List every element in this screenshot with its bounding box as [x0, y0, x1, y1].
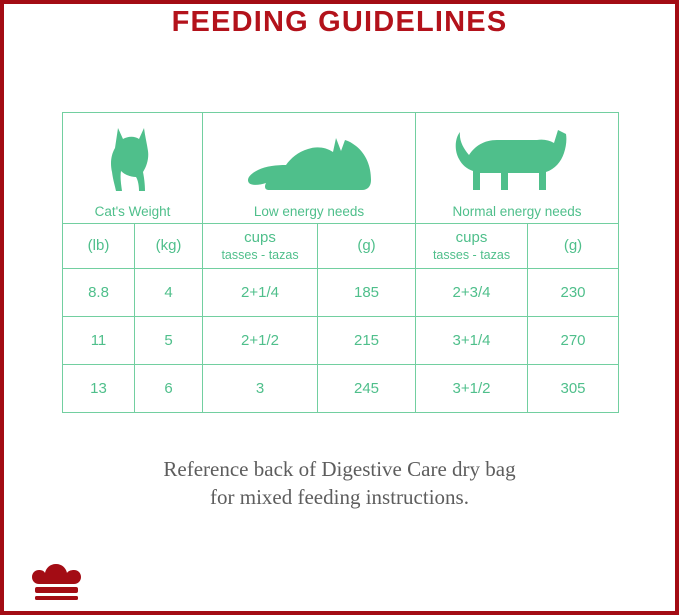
table-row: 11 5 2+1/2 215 3+1/4 270 [63, 317, 619, 365]
lying-cat-icon [244, 132, 374, 196]
royal-canin-crown-logo [26, 559, 96, 605]
cell-weight-kg: 5 [135, 317, 203, 365]
icon-label-cat-weight: Cat's Weight [95, 204, 171, 219]
icon-cell-low-energy: Low energy needs [203, 113, 416, 224]
footnote-text: Reference back of Digestive Care dry bag… [0, 455, 679, 512]
unit-header-grams-low-main: (g) [357, 237, 375, 254]
icon-label-normal-energy: Normal energy needs [452, 204, 581, 219]
footnote-line-2: for mixed feeding instructions. [0, 483, 679, 511]
unit-header-kg: (kg) [135, 224, 203, 269]
cell-cups-low: 2+1/4 [203, 269, 318, 317]
cell-grams-low: 215 [318, 317, 416, 365]
frame-border-top [0, 0, 679, 4]
page-title: FEEDING GUIDELINES [0, 6, 679, 39]
cell-weight-kg: 4 [135, 269, 203, 317]
unit-header-cups-low-sub: tasses - tazas [203, 248, 317, 264]
cell-grams-low: 245 [318, 365, 416, 413]
feeding-guidelines-table: Cat's Weight Low energy needs [62, 112, 619, 413]
unit-header-grams-normal-main: (g) [564, 237, 582, 254]
unit-header-grams-low: (g) [318, 224, 416, 269]
table-row-icons: Cat's Weight Low energy needs [63, 113, 619, 224]
unit-header-lb-main: (lb) [88, 237, 110, 254]
footnote-line-1: Reference back of Digestive Care dry bag [0, 455, 679, 483]
cell-grams-normal: 270 [528, 317, 619, 365]
unit-header-grams-normal: (g) [528, 224, 619, 269]
cell-cups-normal: 3+1/4 [416, 317, 528, 365]
feeding-guidelines-page: FEEDING GUIDELINES Cat's We [0, 0, 679, 615]
standing-cat-icon [451, 126, 583, 196]
frame-border-right [675, 0, 679, 615]
cell-grams-low: 185 [318, 269, 416, 317]
icon-cell-normal-energy: Normal energy needs [416, 113, 619, 224]
unit-header-cups-low-main: cups [244, 229, 276, 246]
unit-header-kg-main: (kg) [156, 237, 182, 254]
unit-header-cups-normal-sub: tasses - tazas [416, 248, 527, 264]
icon-cell-cat-weight: Cat's Weight [63, 113, 203, 224]
cell-grams-normal: 230 [528, 269, 619, 317]
sitting-cat-icon [102, 122, 164, 196]
cell-cups-low: 2+1/2 [203, 317, 318, 365]
unit-header-lb: (lb) [63, 224, 135, 269]
table-row: 8.8 4 2+1/4 185 2+3/4 230 [63, 269, 619, 317]
cell-weight-kg: 6 [135, 365, 203, 413]
unit-header-cups-normal: cups tasses - tazas [416, 224, 528, 269]
table-row-units: (lb) (kg) cups tasses - tazas (g) cups t… [63, 224, 619, 269]
cell-cups-normal: 3+1/2 [416, 365, 528, 413]
frame-border-left [0, 0, 4, 615]
unit-header-cups-normal-main: cups [456, 229, 488, 246]
unit-header-cups-low: cups tasses - tazas [203, 224, 318, 269]
icon-label-low-energy: Low energy needs [254, 204, 364, 219]
cell-weight-lb: 8.8 [63, 269, 135, 317]
cell-weight-lb: 11 [63, 317, 135, 365]
table-row: 13 6 3 245 3+1/2 305 [63, 365, 619, 413]
cell-weight-lb: 13 [63, 365, 135, 413]
cell-grams-normal: 305 [528, 365, 619, 413]
cell-cups-normal: 2+3/4 [416, 269, 528, 317]
cell-cups-low: 3 [203, 365, 318, 413]
frame-border-bottom [0, 611, 679, 615]
